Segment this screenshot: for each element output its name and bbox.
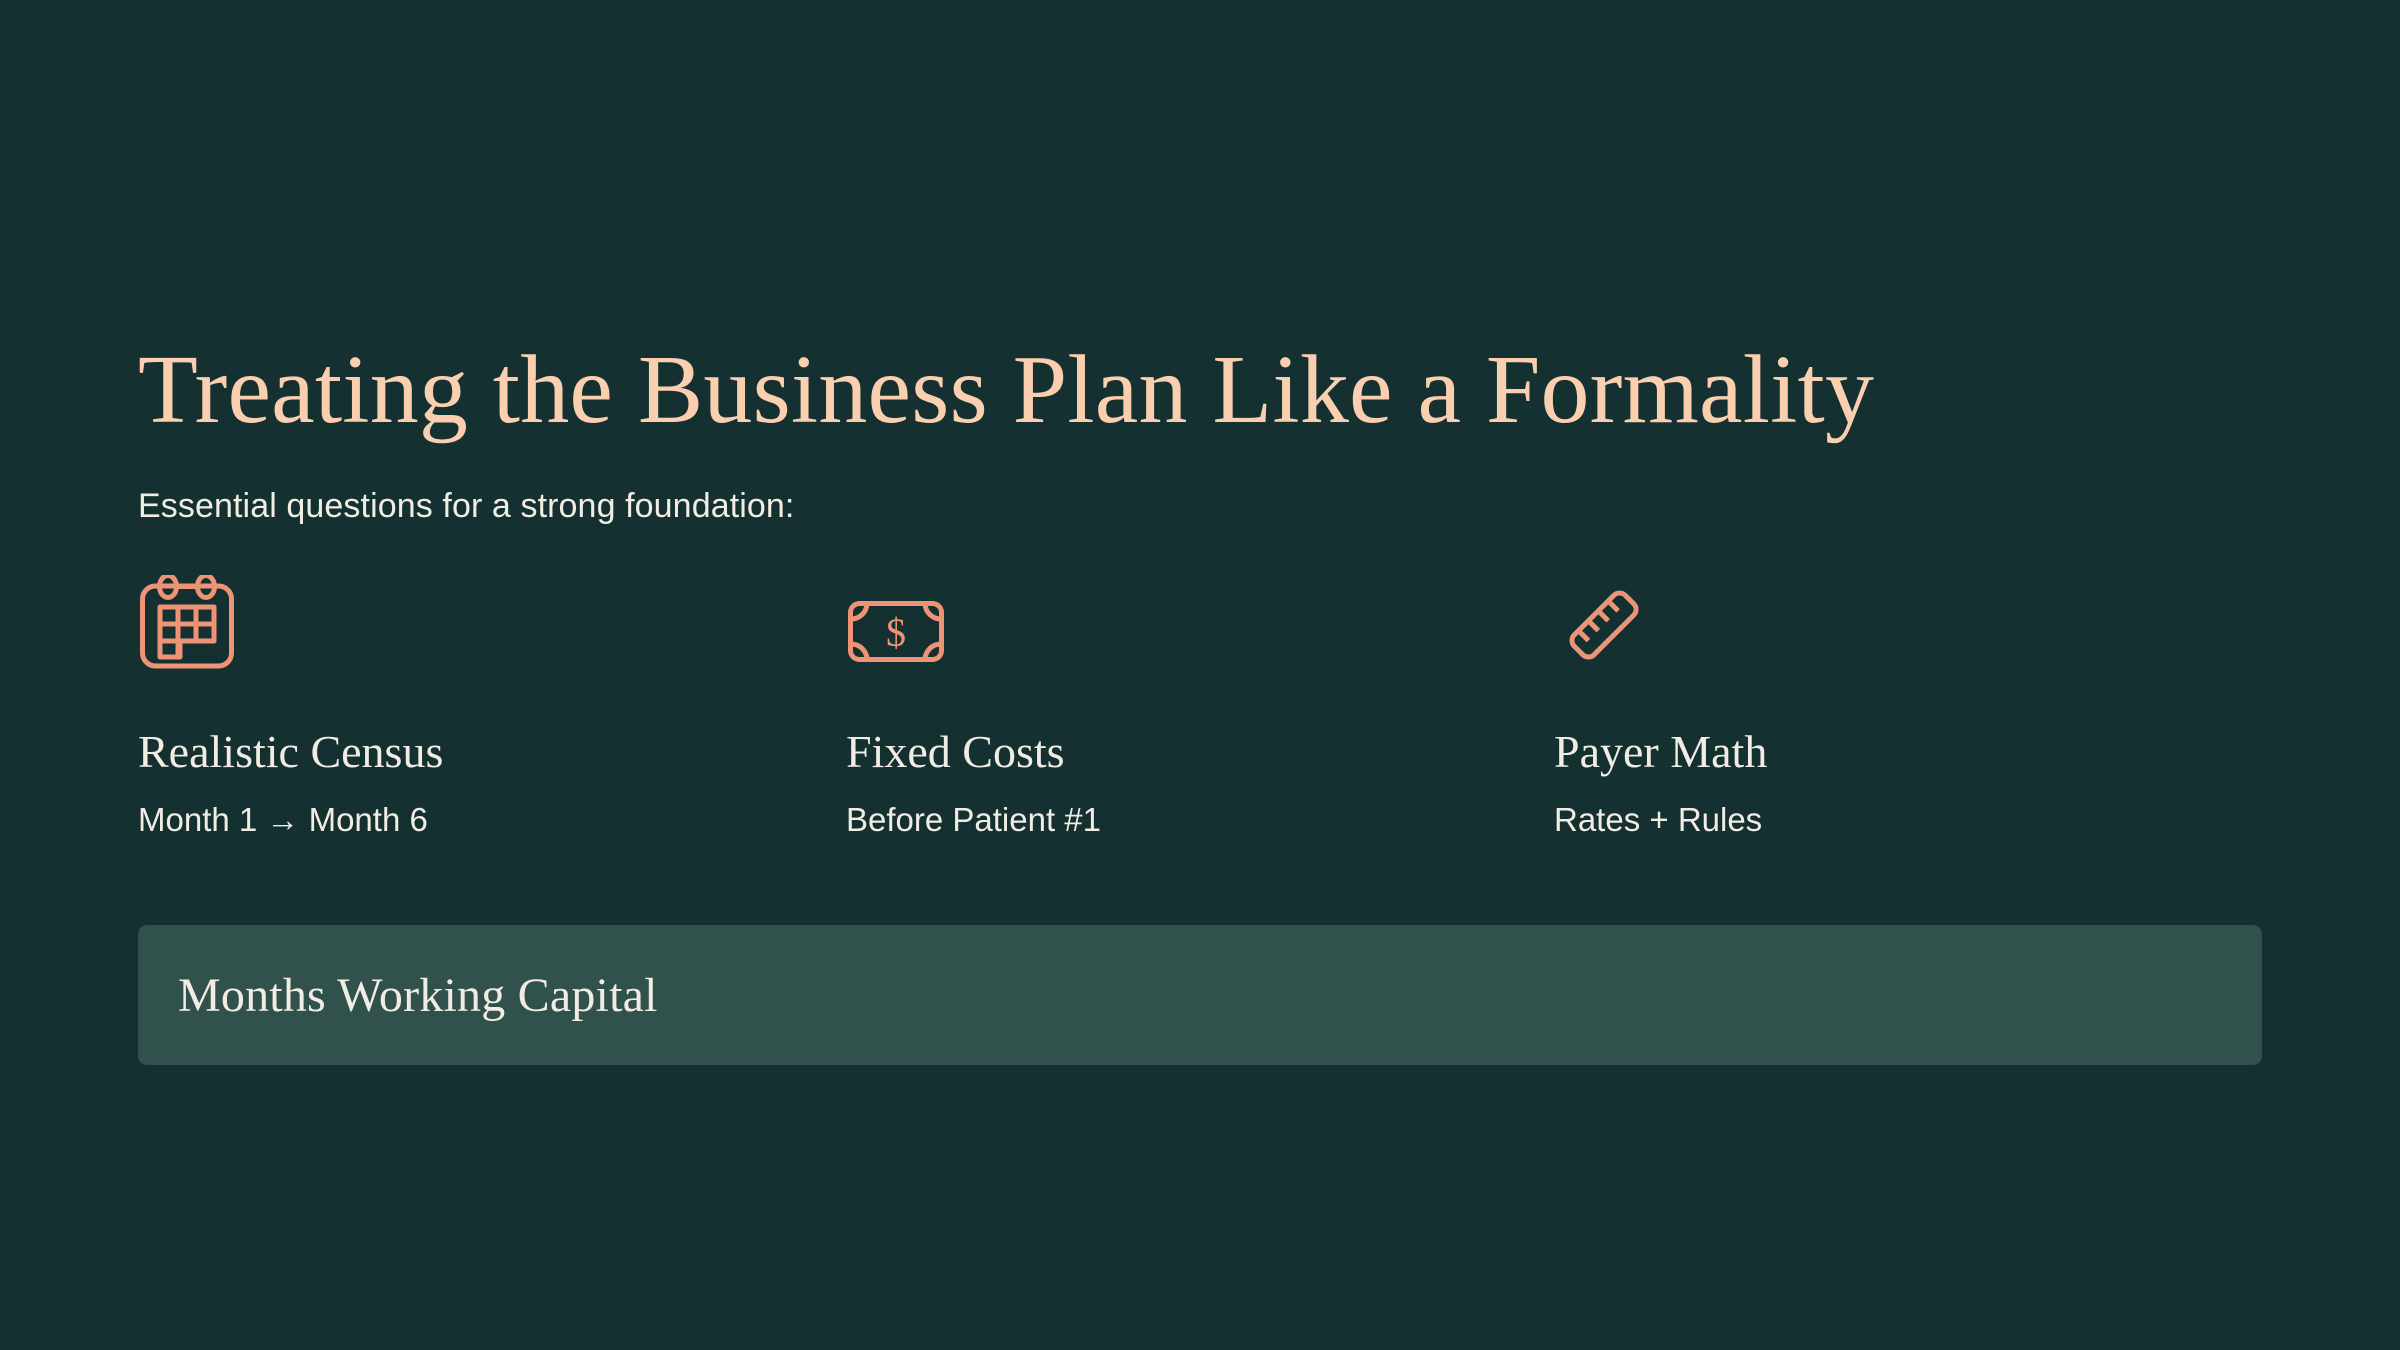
feature-subtitle: Rates + Rules: [1554, 800, 2262, 840]
feature-column-fixed-costs: $ Fixed Costs Before Patient #1: [846, 575, 1554, 839]
page-title: Treating the Business Plan Like a Formal…: [138, 338, 1874, 444]
feature-title: Fixed Costs: [846, 727, 1554, 778]
slide-content: Treating the Business Plan Like a Formal…: [138, 0, 2262, 1350]
feature-column-payer-math: Payer Math Rates + Rules: [1554, 575, 2262, 839]
banknote-icon: $: [846, 575, 1554, 685]
working-capital-banner: Months Working Capital: [138, 925, 2262, 1065]
slide-subtitle: Essential questions for a strong foundat…: [138, 487, 794, 526]
feature-subtitle: Month 1 → Month 6: [138, 800, 846, 840]
feature-column-realistic-census: Realistic Census Month 1 → Month 6: [138, 575, 846, 839]
slide-root: Treating the Business Plan Like a Formal…: [0, 0, 2400, 1350]
feature-columns: Realistic Census Month 1 → Month 6: [138, 575, 2262, 839]
feature-title: Payer Math: [1554, 727, 2262, 778]
banner-label: Months Working Capital: [178, 968, 658, 1023]
svg-text:$: $: [886, 610, 906, 655]
feature-title: Realistic Census: [138, 727, 846, 778]
calendar-icon: [138, 575, 846, 685]
feature-subtitle: Before Patient #1: [846, 800, 1554, 840]
ruler-icon: [1554, 575, 2262, 685]
